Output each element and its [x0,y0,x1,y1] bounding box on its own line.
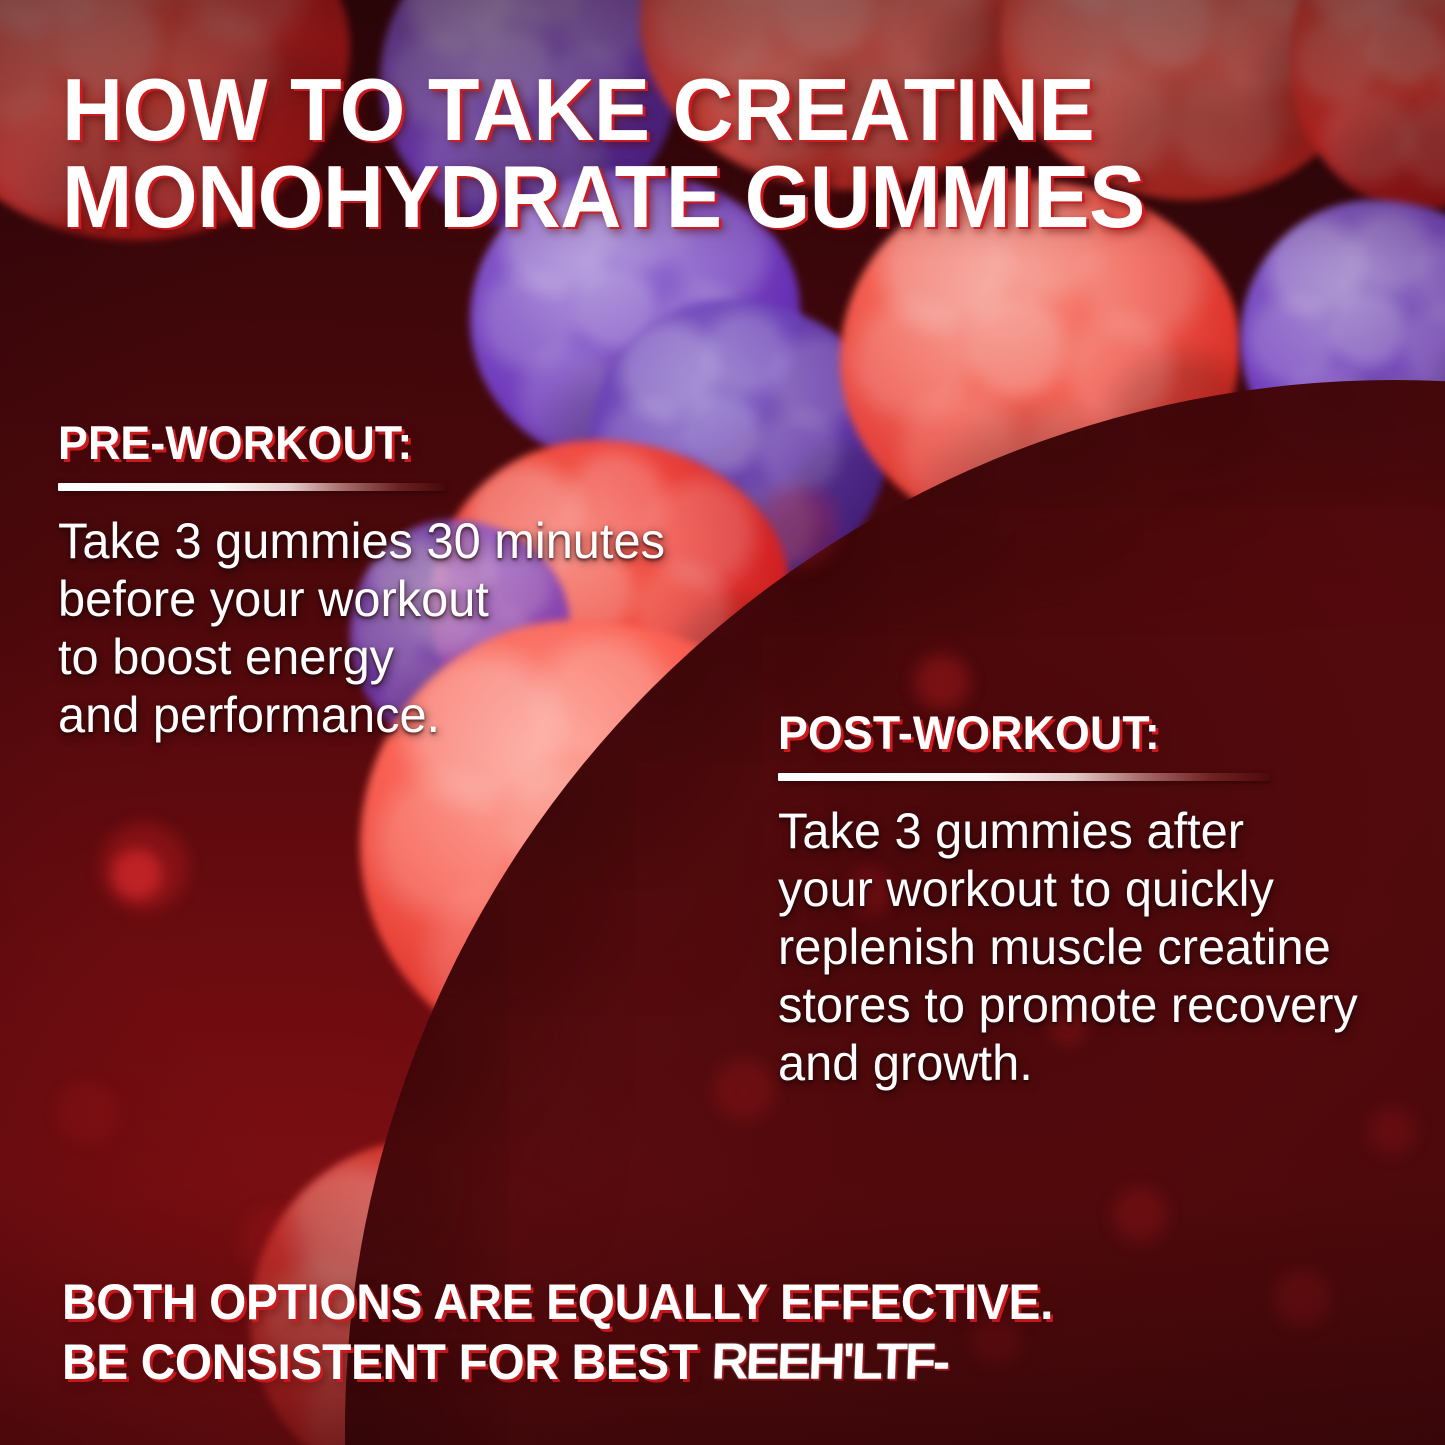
footer-line-1: BOTH OPTIONS ARE EQUALLY EFFECTIVE. [62,1274,1053,1330]
page-title: HOW TO TAKE CREATINE MONOHYDRATE GUMMIES [62,66,1224,240]
post-workout-section: POST-WORKOUT: Take 3 gummies after your … [778,705,1418,1092]
post-workout-underline [778,773,1270,781]
pre-workout-heading: PRE-WORKOUT: [58,415,723,470]
pre-workout-underline [58,483,446,491]
infographic-poster: HOW TO TAKE CREATINE MONOHYDRATE GUMMIES… [0,0,1445,1445]
pre-workout-section: PRE-WORKOUT: Take 3 gummies 30 minutes b… [58,415,758,744]
footer-line-2-prefix: BE CONSISTENT FOR BEST [62,1334,711,1390]
footer-distorted-word: REEH'LTF- [711,1331,949,1392]
post-workout-heading: POST-WORKOUT: [778,705,1386,760]
post-workout-body-text: Take 3 gummies after your workout to qui… [778,802,1402,1092]
pre-workout-body-text: Take 3 gummies 30 minutes before your wo… [58,512,741,744]
poster-content: HOW TO TAKE CREATINE MONOHYDRATE GUMMIES… [0,0,1445,1445]
footer-note: BOTH OPTIONS ARE EQUALLY EFFECTIVE.BE CO… [62,1272,1332,1392]
